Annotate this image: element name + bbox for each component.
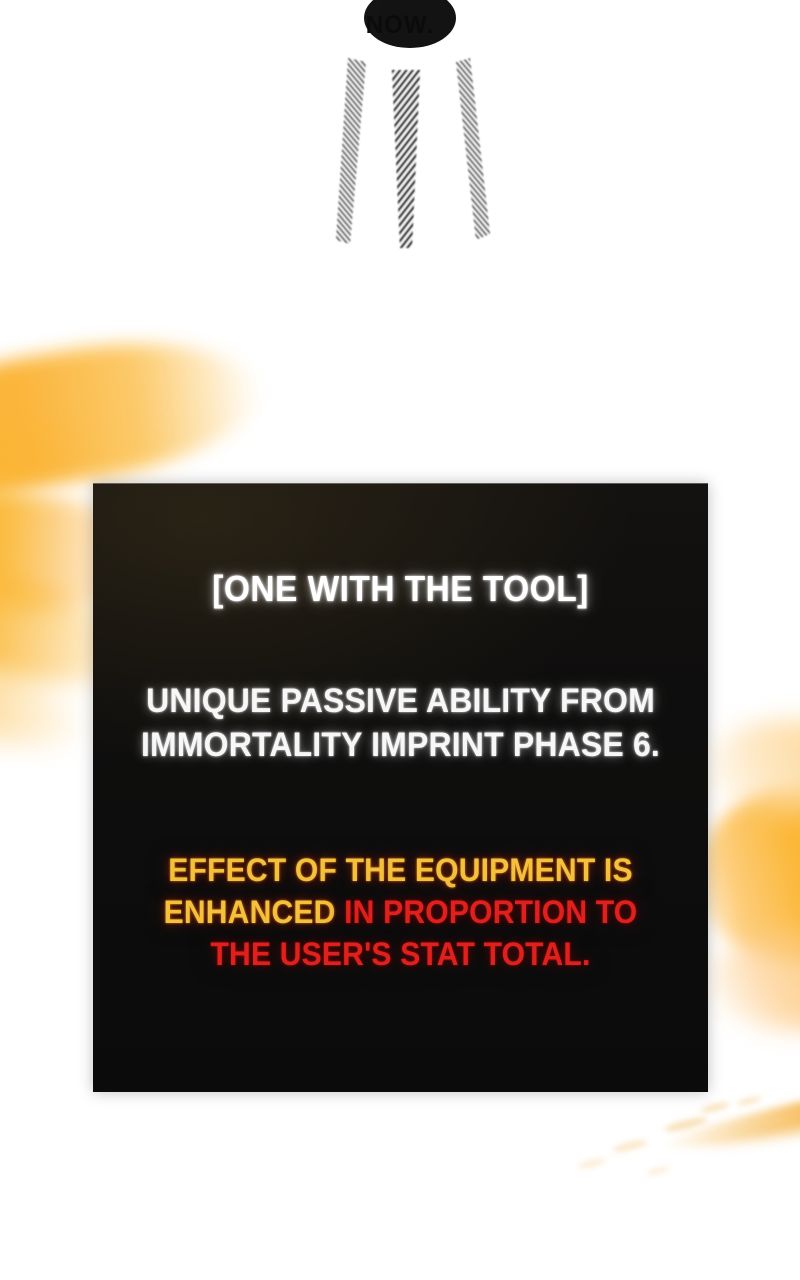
skill-effect-line-1-gold: EFFECT OF THE EQUIPMENT IS xyxy=(168,852,632,888)
ember-particle xyxy=(664,1115,709,1134)
skill-effect-line-3: THE USER'S STAT TOTAL. xyxy=(111,933,689,975)
flame-wisp-left-bottom xyxy=(0,626,95,765)
skill-effect-text: EFFECT OF THE EQUIPMENT IS ENHANCED IN P… xyxy=(93,849,708,975)
ember-particle xyxy=(646,1165,671,1177)
skill-title: [ONE WITH THE TOOL] xyxy=(115,567,687,611)
flame-wisp-right-main xyxy=(700,790,800,960)
flame-wisp-left-second xyxy=(0,412,103,518)
skill-description-line-1: UNIQUE PASSIVE ABILITY FROM xyxy=(111,679,689,723)
skill-description: UNIQUE PASSIVE ABILITY FROM IMMORTALITY … xyxy=(93,679,708,767)
flame-wisp-right-lower xyxy=(712,930,800,1030)
flame-wisp-right-upper xyxy=(706,720,800,815)
skill-effect-line-1: EFFECT OF THE EQUIPMENT IS xyxy=(111,849,689,891)
skill-description-box: [ONE WITH THE TOOL] UNIQUE PASSIVE ABILI… xyxy=(93,483,708,1092)
skill-description-line-2: IMMORTALITY IMPRINT PHASE 6. xyxy=(111,723,689,767)
skill-effect-line-2-gold: ENHANCED xyxy=(164,894,345,930)
narration-line-1: THE TROLLS ATTACKS xyxy=(16,0,784,8)
ember-particle xyxy=(612,1138,649,1154)
skill-effect-line-2-crimson: IN PROPORTION TO xyxy=(344,894,637,930)
flame-streak-secondary xyxy=(691,1094,800,1156)
narration-line-2: NOW. xyxy=(16,8,784,42)
skill-effect-line-3-crimson: THE USER'S STAT TOTAL. xyxy=(210,936,590,972)
narration-caption: THE TROLLS ATTACKS NOW. xyxy=(0,0,800,42)
ember-particle xyxy=(578,1157,607,1171)
ember-particle xyxy=(700,1100,731,1114)
ember-particle xyxy=(736,1095,763,1107)
webtoon-panel: THE TROLLS ATTACKS NOW. [ONE WITH THE TO… xyxy=(0,0,800,1280)
skill-effect-line-2: ENHANCED IN PROPORTION TO xyxy=(111,891,689,933)
